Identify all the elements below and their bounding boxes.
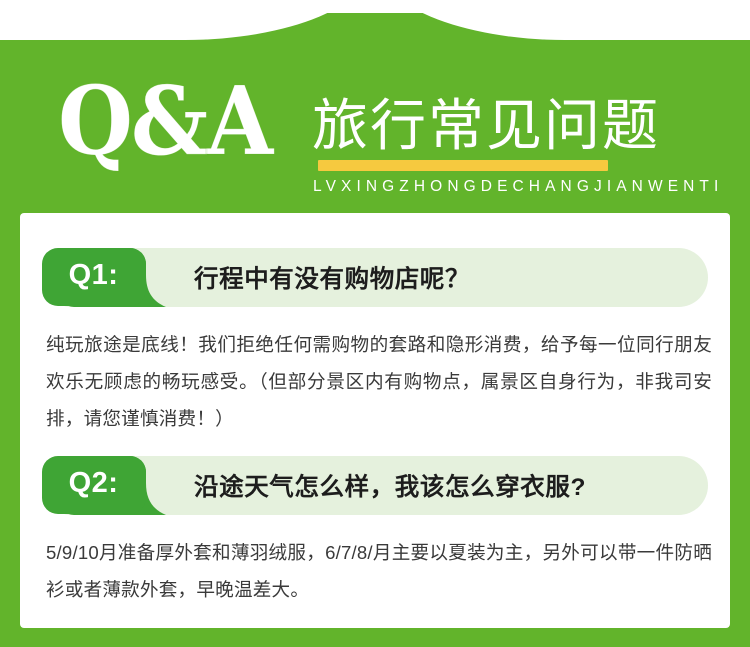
question-row[interactable]: Q1: 行程中有没有购物店呢？ [42, 248, 708, 307]
question-text: 沿途天气怎么样，我该怎么穿衣服? [194, 456, 586, 515]
question-badge-label: Q2: [42, 453, 146, 514]
answer-text: 纯玩旅途是底线！我们拒绝任何需购物的套路和隐形消费，给予每一位同行朋友欢乐无顾虑… [46, 326, 712, 437]
question-row[interactable]: Q2: 沿途天气怎么样，我该怎么穿衣服? [42, 456, 708, 515]
question-badge-label: Q1: [42, 245, 146, 306]
answer-text: 5/9/10月准备厚外套和薄羽绒服，6/7/8/月主要以夏装为主，另外可以带一件… [46, 534, 712, 608]
faq-item: Q2: 沿途天气怎么样，我该怎么穿衣服? 5/9/10月准备厚外套和薄羽绒服，6… [20, 456, 730, 608]
faq-poster: Q&A 旅行常见问题 LVXINGZHONGDECHANGJIANWENTI Q… [0, 0, 750, 647]
question-badge: Q2: [42, 453, 166, 518]
qa-mark: Q&A [58, 75, 271, 170]
page-title: 旅行常见问题 [312, 96, 660, 156]
question-text: 行程中有没有购物店呢？ [194, 248, 470, 307]
title-pinyin: LVXINGZHONGDECHANGJIANWENTI [313, 178, 723, 196]
faq-item: Q1: 行程中有没有购物店呢？ 纯玩旅途是底线！我们拒绝任何需购物的套路和隐形消… [20, 248, 730, 437]
faq-card: Q1: 行程中有没有购物店呢？ 纯玩旅途是底线！我们拒绝任何需购物的套路和隐形消… [20, 213, 730, 628]
poster-header: Q&A 旅行常见问题 LVXINGZHONGDECHANGJIANWENTI [0, 13, 750, 213]
title-underline-bar [318, 160, 608, 171]
question-badge: Q1: [42, 245, 166, 310]
